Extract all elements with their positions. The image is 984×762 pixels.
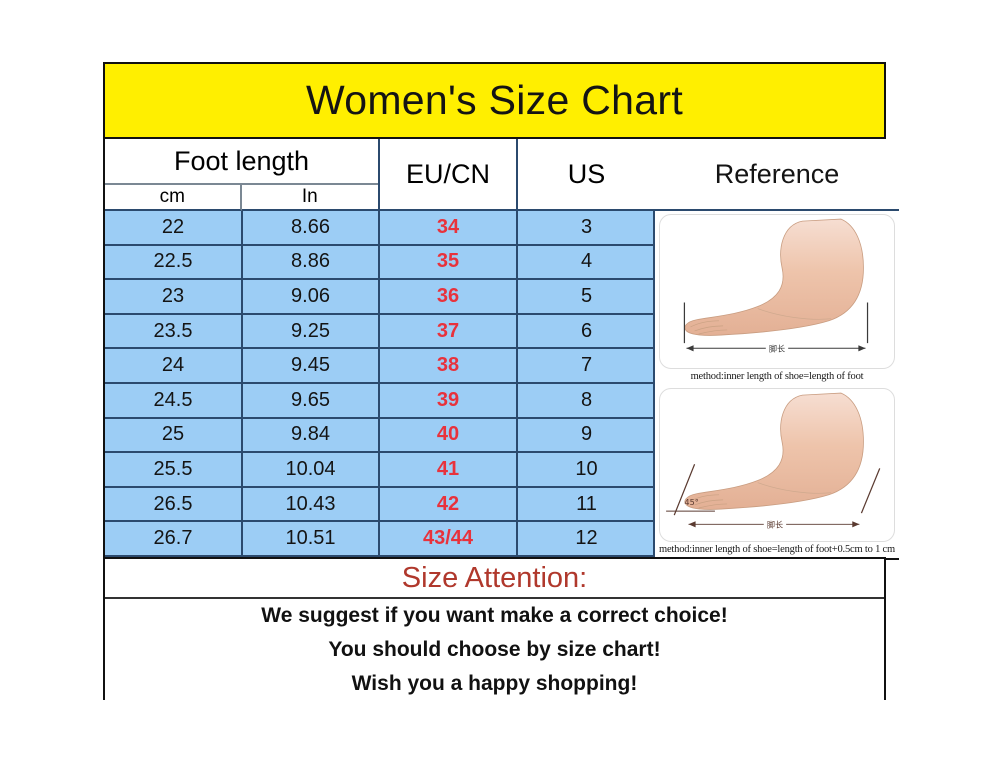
cell-cm: 26.5 xyxy=(105,488,243,521)
foot-measure-card-1: 脚长 xyxy=(659,214,895,369)
cell-cm: 22 xyxy=(105,211,243,244)
reference-figures: 脚长 method:inner length of shoe=length of… xyxy=(655,211,899,560)
table-header: Foot length cm In EU/CN US xyxy=(105,139,653,211)
table-row: 22.58.86354 xyxy=(105,246,653,281)
reference-caption-1: method:inner length of shoe=length of fo… xyxy=(659,369,895,385)
table-row: 25.510.044110 xyxy=(105,453,653,488)
foot-length-unit-headers: cm In xyxy=(105,185,378,211)
table-row: 259.84409 xyxy=(105,419,653,454)
cell-in: 9.25 xyxy=(243,315,380,348)
header-cm: cm xyxy=(105,185,242,211)
cell-us: 11 xyxy=(518,488,655,521)
reference-figure-1: 脚长 method:inner length of shoe=length of… xyxy=(655,211,899,385)
foot-measure-card-2: 45° 脚长 xyxy=(659,388,895,543)
chart-body: Foot length cm In EU/CN US 228.6634322.5… xyxy=(105,139,884,705)
table-row: 26.510.434211 xyxy=(105,488,653,523)
cell-eu-cn: 36 xyxy=(380,280,518,313)
cell-us: 10 xyxy=(518,453,655,486)
foot-diagram-straight-icon: 脚长 xyxy=(660,215,894,368)
size-attention-line: We suggest if you want make a correct ch… xyxy=(261,599,727,633)
header-eu-cn: EU/CN xyxy=(380,139,518,211)
foot-diagram-angled-icon: 45° 脚长 xyxy=(660,389,894,542)
cell-eu-cn: 42 xyxy=(380,488,518,521)
foot-length-header: Foot length xyxy=(105,139,378,185)
table-row: 24.59.65398 xyxy=(105,384,653,419)
cell-us: 9 xyxy=(518,419,655,452)
page-title: Women's Size Chart xyxy=(306,80,683,121)
table-row: 249.45387 xyxy=(105,349,653,384)
cell-us: 6 xyxy=(518,315,655,348)
cell-us: 8 xyxy=(518,384,655,417)
size-attention-body: We suggest if you want make a correct ch… xyxy=(105,599,884,705)
size-table-data-columns: Foot length cm In EU/CN US 228.6634322.5… xyxy=(105,139,655,557)
cell-eu-cn: 41 xyxy=(380,453,518,486)
cell-eu-cn: 43/44 xyxy=(380,522,518,555)
cell-in: 9.84 xyxy=(243,419,380,452)
cell-in: 9.06 xyxy=(243,280,380,313)
header-in: In xyxy=(242,185,379,211)
dimension-label-2: 脚长 xyxy=(767,519,783,529)
cell-in: 10.51 xyxy=(243,522,380,555)
table-row: 23.59.25376 xyxy=(105,315,653,350)
cell-cm: 26.7 xyxy=(105,522,243,555)
reference-column: Reference xyxy=(655,139,899,557)
cell-eu-cn: 39 xyxy=(380,384,518,417)
size-attention-line: Wish you a happy shopping! xyxy=(352,667,638,701)
womens-size-chart: Women's Size Chart Foot length cm In EU/… xyxy=(103,62,886,700)
reference-figure-2: 45° 脚长 method:inner length of shoe=lengt… xyxy=(655,385,899,559)
cell-cm: 25.5 xyxy=(105,453,243,486)
foot-length-header-group: Foot length cm In xyxy=(105,139,380,211)
cell-eu-cn: 37 xyxy=(380,315,518,348)
cell-cm: 24 xyxy=(105,349,243,382)
header-reference: Reference xyxy=(655,139,899,211)
cell-cm: 22.5 xyxy=(105,246,243,279)
cell-us: 4 xyxy=(518,246,655,279)
dimension-label-1: 脚长 xyxy=(769,343,785,353)
cell-eu-cn: 40 xyxy=(380,419,518,452)
header-us: US xyxy=(518,139,655,211)
cell-in: 9.65 xyxy=(243,384,380,417)
table-row: 239.06365 xyxy=(105,280,653,315)
table-rows: 228.6634322.58.86354239.0636523.59.25376… xyxy=(105,211,653,557)
cell-eu-cn: 34 xyxy=(380,211,518,244)
size-table: Foot length cm In EU/CN US 228.6634322.5… xyxy=(105,139,884,557)
size-attention-line: You should choose by size chart! xyxy=(328,633,660,667)
cell-eu-cn: 38 xyxy=(380,349,518,382)
cell-cm: 24.5 xyxy=(105,384,243,417)
cell-in: 8.66 xyxy=(243,211,380,244)
angle-label-45: 45° xyxy=(684,497,698,507)
cell-us: 5 xyxy=(518,280,655,313)
cell-in: 8.86 xyxy=(243,246,380,279)
size-attention-header: Size Attention: xyxy=(105,557,884,599)
cell-cm: 25 xyxy=(105,419,243,452)
cell-cm: 23 xyxy=(105,280,243,313)
table-row: 228.66343 xyxy=(105,211,653,246)
cell-cm: 23.5 xyxy=(105,315,243,348)
cell-us: 12 xyxy=(518,522,655,555)
cell-us: 7 xyxy=(518,349,655,382)
table-row: 26.710.5143/4412 xyxy=(105,522,653,557)
reference-caption-2: method:inner length of shoe=length of fo… xyxy=(659,542,895,558)
size-attention-heading: Size Attention: xyxy=(402,562,587,595)
cell-eu-cn: 35 xyxy=(380,246,518,279)
chart-title-band: Women's Size Chart xyxy=(105,64,884,139)
cell-in: 10.04 xyxy=(243,453,380,486)
cell-in: 9.45 xyxy=(243,349,380,382)
cell-us: 3 xyxy=(518,211,655,244)
cell-in: 10.43 xyxy=(243,488,380,521)
